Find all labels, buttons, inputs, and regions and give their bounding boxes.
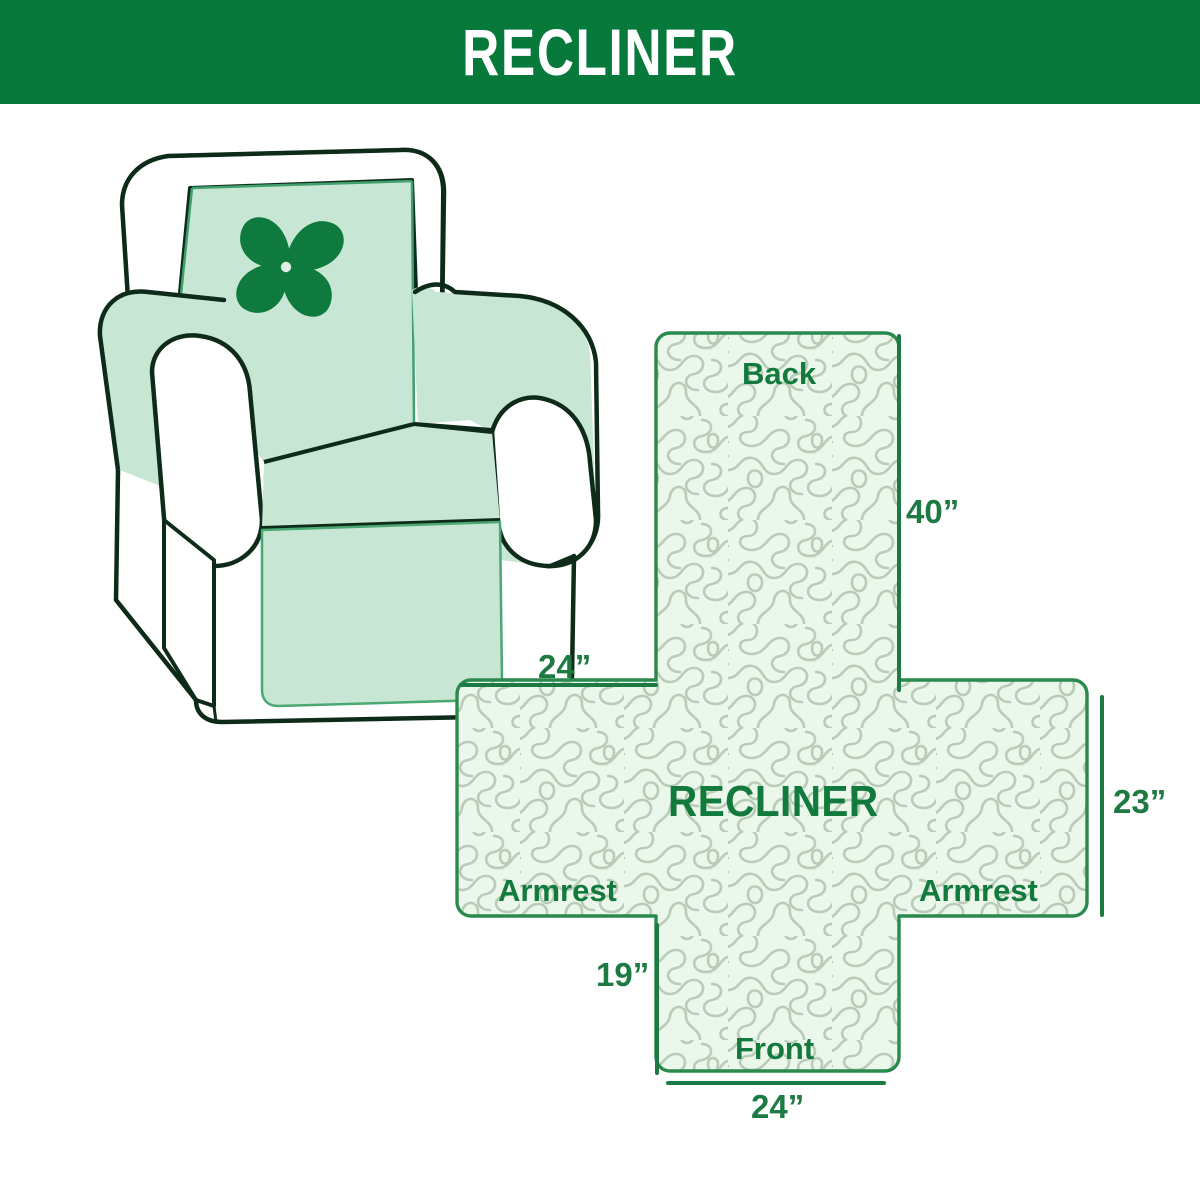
dimension-label-front-height: 19”: [596, 958, 649, 991]
dimension-label-armrest-height: 23”: [1113, 785, 1166, 818]
dimension-label-back-height: 40”: [906, 495, 959, 528]
dimension-label-armrest-width: 24”: [538, 650, 591, 683]
product-spec-infographic: RECLINER: [0, 0, 1200, 1200]
section-label-armrest-left: Armrest: [498, 875, 617, 906]
diagram-center-label: RECLINER: [668, 780, 879, 824]
dimension-label-front-width: 24”: [751, 1090, 804, 1123]
chair-illustration: [100, 150, 598, 722]
section-label-armrest-right: Armrest: [919, 875, 1038, 906]
section-label-back: Back: [742, 358, 816, 389]
illustration-canvas: [0, 0, 1200, 1200]
section-label-front: Front: [735, 1033, 814, 1064]
